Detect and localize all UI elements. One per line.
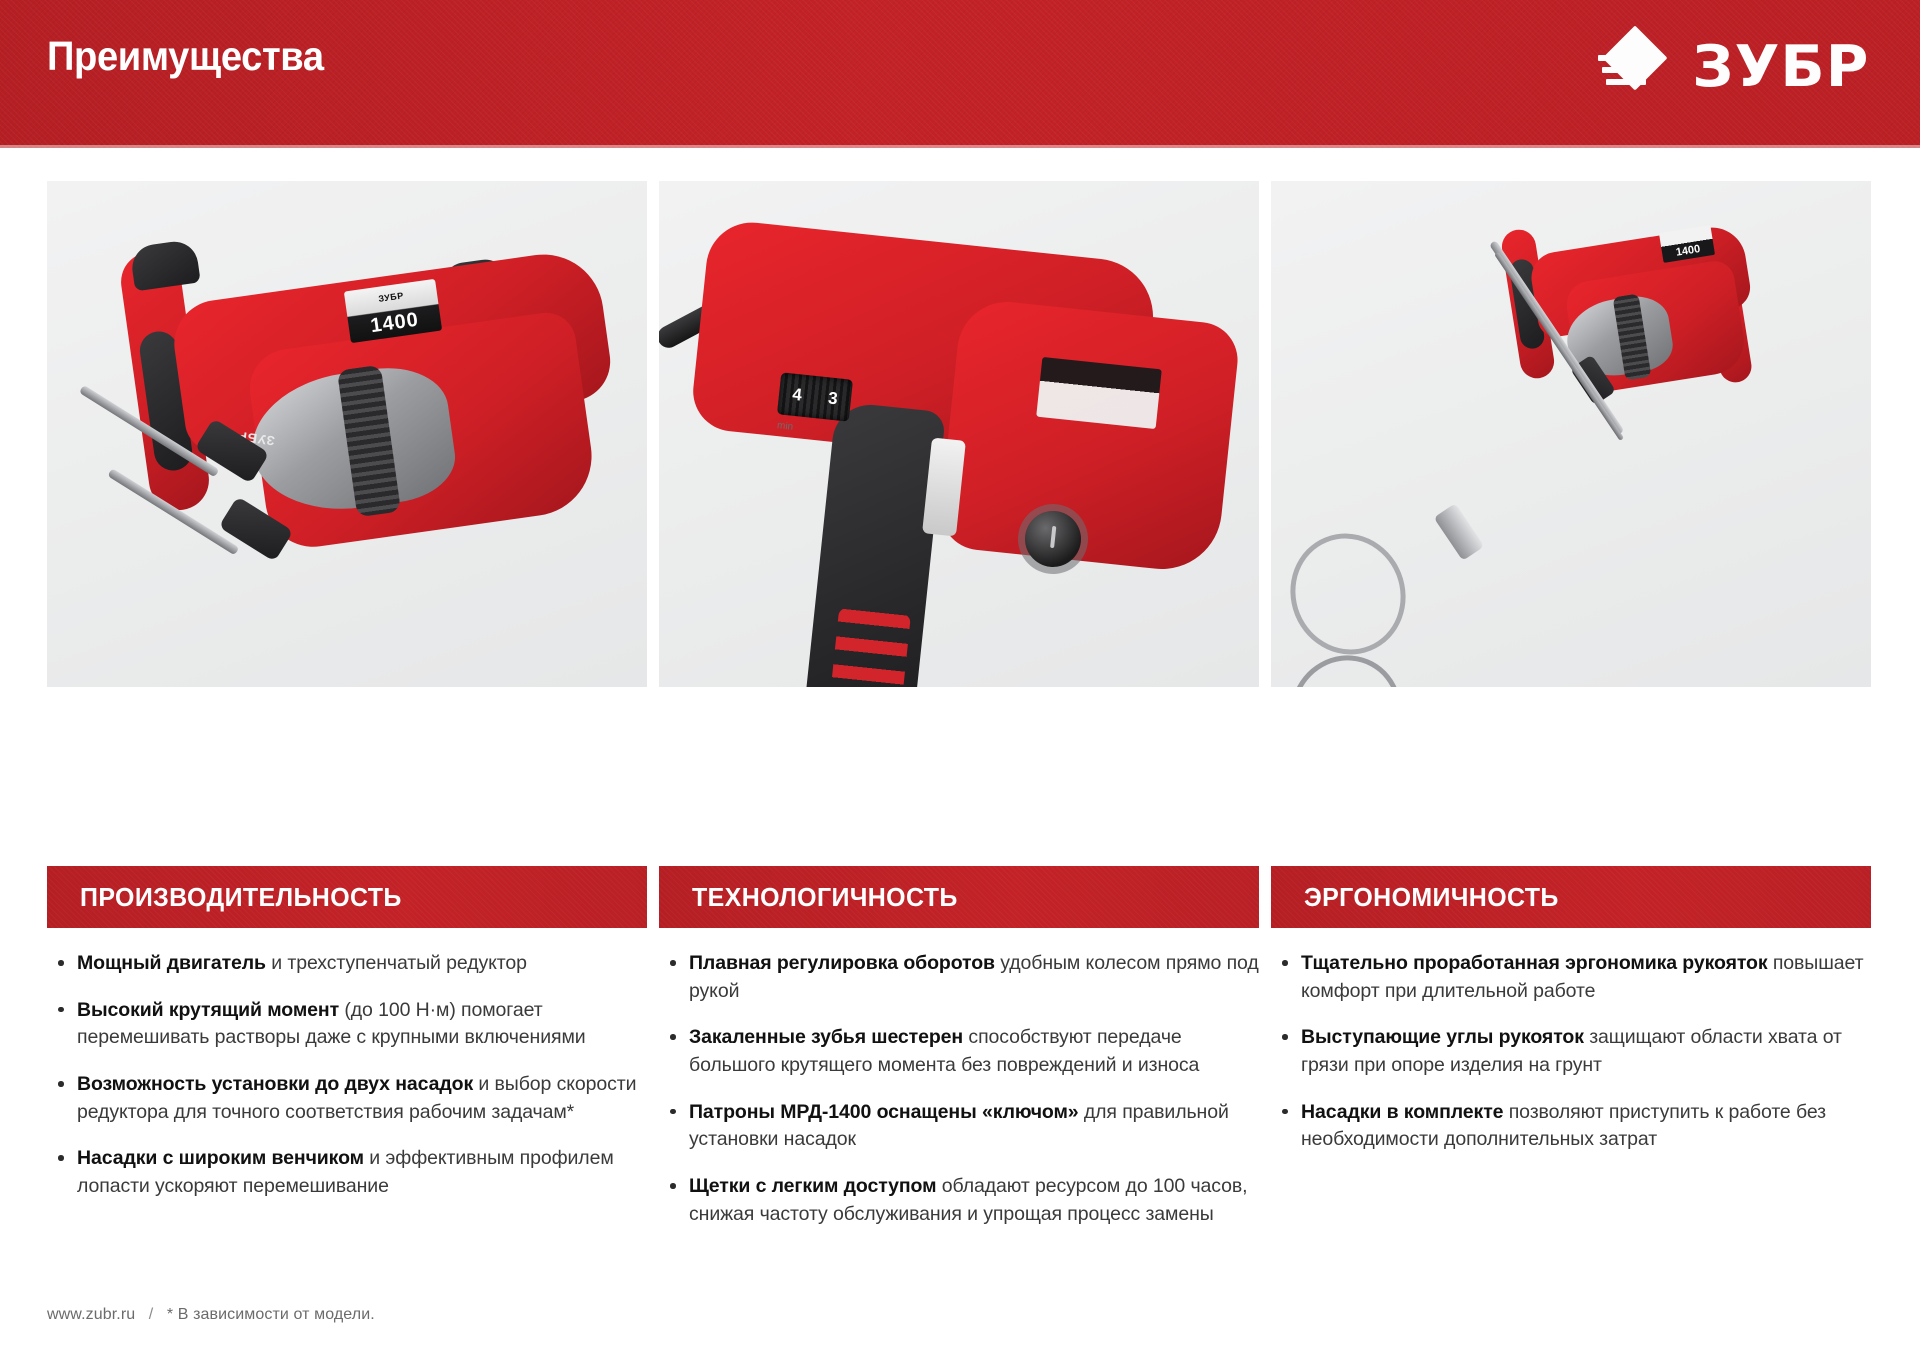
photo-full-tool-with-paddle: 1400 [1271,181,1871,687]
zubr-logo: ЗУБР [1596,28,1868,106]
logo-bar-top [1598,55,1644,61]
column-ergonomics: ЭРГОНОМИЧНОСТЬ Тщательно проработанная э… [1271,866,1871,1248]
left-handle-cap [129,239,200,292]
header-underline [0,145,1920,148]
bullet-strong: Мощный двигатель [77,952,266,974]
zubr-diamond-arrow-icon [1596,29,1676,105]
list-item: Плавная регулировка оборотов удобным кол… [659,950,1259,1005]
list-item: Патроны МРД-1400 оснащены «ключом» для п… [659,1099,1259,1154]
column-technology: ТЕХНОЛОГИЧНОСТЬ Плавная регулировка обор… [659,866,1259,1248]
column-header-technology: ТЕХНОЛОГИЧНОСТЬ [659,866,1259,928]
photo-speed-dial-closeup: 4 3 min [659,181,1259,687]
bullet-strong: Возможность установки до двух насадок [77,1073,473,1095]
column-header-ergonomics: ЭРГОНОМИЧНОСТЬ [1271,866,1871,928]
photo-mixer-body-two-chucks: ЗУБР 1400 ЗУБР [47,181,647,687]
list-item: Насадки с широким венчиком и эффективным… [47,1145,647,1200]
whisk-ring-1 [1272,516,1423,672]
column-performance: ПРОИЗВОДИТЕЛЬНОСТЬ Мощный двигатель и тр… [47,866,647,1248]
footer-site-link[interactable]: www.zubr.ru [47,1306,135,1323]
speed-dial-min-label: min [776,420,793,433]
speed-dial-value-right: 3 [827,388,839,409]
list-item: Выступающие углы рукояток защищают облас… [1271,1024,1871,1079]
bullet-strong: Тщательно проработанная эргономика рукоя… [1301,952,1768,974]
bullet-list-technology: Плавная регулировка оборотов удобным кол… [659,950,1259,1229]
housing-right [937,297,1242,575]
list-item: Возможность установки до двух насадок и … [47,1071,647,1126]
column-heading-label: ПРОИЗВОДИТЕЛЬНОСТЬ [80,882,402,913]
bullet-rest: и трехступенчатый редуктор [266,952,527,974]
bullet-strong: Патроны МРД-1400 оснащены «ключом» [689,1101,1079,1123]
grip-ribs [829,608,911,687]
speed-dial: 4 3 [777,372,853,421]
bullet-strong: Насадки с широким венчиком [77,1147,364,1169]
bullet-list-performance: Мощный двигатель и трехступенчатый редук… [47,950,647,1201]
list-item: Щетки с легким доступом обладают ресурсо… [659,1173,1259,1228]
logo-bar-bottom [1606,79,1646,85]
list-item: Высокий крутящий момент (до 100 Н·м) пом… [47,997,647,1052]
logo-bar-middle [1602,67,1646,73]
list-item: Насадки в комплекте позволяют приступить… [1271,1099,1871,1154]
page-header: Преимущества ЗУБР [0,0,1920,148]
bullet-strong: Насадки в комплекте [1301,1101,1503,1123]
bullet-strong: Выступающие углы рукояток [1301,1026,1584,1048]
page-footer: www.zubr.ru / * В зависимости от модели. [47,1306,375,1324]
column-heading-label: ЭРГОНОМИЧНОСТЬ [1304,882,1559,913]
bullet-list-ergonomics: Тщательно проработанная эргономика рукоя… [1271,950,1871,1154]
bullet-strong: Закаленные зубья шестерен [689,1026,963,1048]
product-photo-strip: ЗУБР 1400 ЗУБР 4 3 min [47,181,1871,687]
benefits-columns: ПРОИЗВОДИТЕЛЬНОСТЬ Мощный двигатель и тр… [47,866,1871,1248]
bullet-strong: Высокий крутящий момент [77,999,339,1021]
list-item: Тщательно проработанная эргономика рукоя… [1271,950,1871,1005]
spec-plate [1036,357,1162,429]
list-item: Мощный двигатель и трехступенчатый редук… [47,950,647,978]
speed-dial-value-left: 4 [791,385,803,406]
logo-wordmark: ЗУБР [1693,39,1870,96]
footer-note: * В зависимости от модели. [167,1306,375,1323]
bullet-strong: Плавная регулировка оборотов [689,952,995,974]
paddle-whisk [1291,533,1481,687]
list-item: Закаленные зубья шестерен способствуют п… [659,1024,1259,1079]
column-header-performance: ПРОИЗВОДИТЕЛЬНОСТЬ [47,866,647,928]
footer-separator: / [149,1306,154,1323]
page-title: Преимущества [47,36,324,77]
column-heading-label: ТЕХНОЛОГИЧНОСТЬ [692,882,958,913]
bullet-strong: Щетки с легким доступом [689,1175,936,1197]
